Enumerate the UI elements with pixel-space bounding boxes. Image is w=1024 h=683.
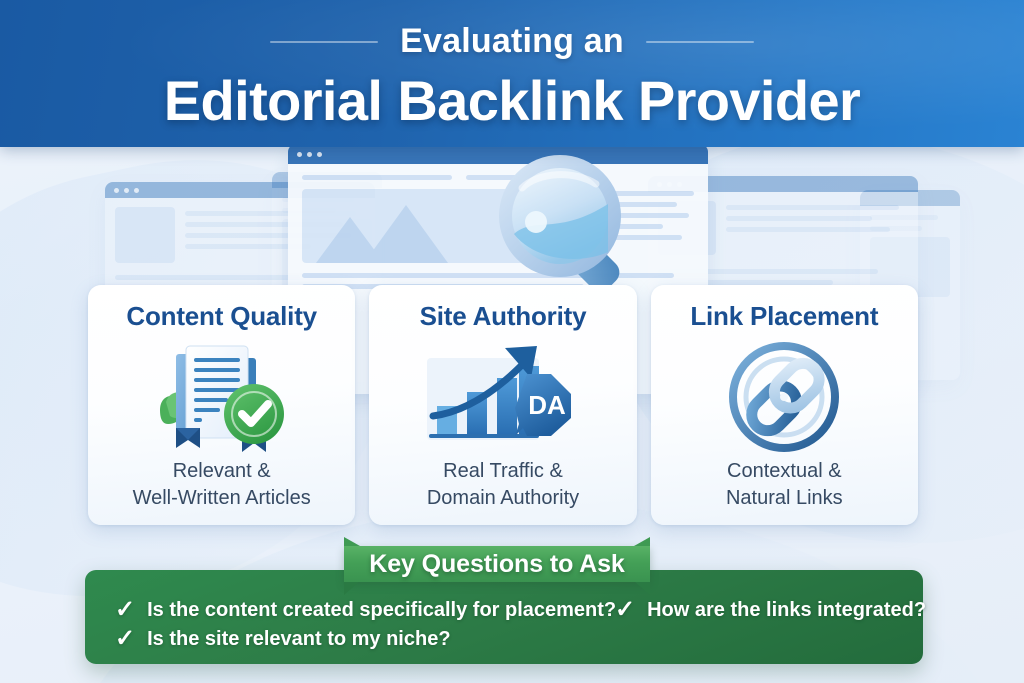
card-subtitle-line-1: Relevant & (133, 458, 311, 484)
infographic-canvas: Evaluating an Editorial Backlink Provide… (0, 0, 1024, 683)
question-item: ✓ Is the content created specifically fo… (115, 598, 615, 622)
decorative-rule-left (270, 41, 378, 43)
mockup-dot-icon (114, 188, 119, 193)
card-subtitle-line-2: Domain Authority (427, 485, 579, 511)
question-item: ✓ Is the site relevant to my niche? (115, 627, 615, 651)
ribbon-notch-left (344, 537, 360, 546)
ribbon-fold-right (635, 582, 650, 595)
check-mark-icon: ✓ (615, 598, 635, 622)
card-subtitle: Contextual & Natural Links (726, 458, 843, 511)
chain-link-circle-icon (661, 336, 908, 458)
mockup-dot-icon (307, 152, 312, 157)
card-subtitle-line-2: Natural Links (726, 485, 843, 511)
check-mark-icon: ✓ (115, 627, 135, 651)
card-subtitle-line-2: Well-Written Articles (133, 485, 311, 511)
mockup-dot-icon (297, 152, 302, 157)
card-subtitle-line-1: Real Traffic & (427, 458, 579, 484)
bar-chart-growth-arrow-icon: DA (379, 336, 626, 458)
key-questions-ribbon: Key Questions to Ask (344, 546, 650, 582)
document-with-check-badge-icon (98, 336, 345, 458)
card-title: Site Authority (420, 301, 587, 332)
key-questions-panel: ✓ Is the content created specifically fo… (85, 570, 923, 664)
mockup-dot-icon (134, 188, 139, 193)
question-text: Is the site relevant to my niche? (147, 628, 450, 651)
header-banner: Evaluating an Editorial Backlink Provide… (0, 0, 1024, 147)
decorative-rule-right (646, 41, 754, 43)
card-subtitle: Relevant & Well-Written Articles (133, 458, 311, 511)
mockup-dot-icon (317, 152, 322, 157)
question-text: How are the links integrated? (647, 599, 926, 622)
da-badge-label: DA (528, 390, 566, 420)
feature-card-row: Content Quality (88, 285, 918, 525)
header-eyebrow: Evaluating an (400, 22, 624, 61)
page-title: Editorial Backlink Provider (0, 68, 1024, 133)
card-subtitle: Real Traffic & Domain Authority (427, 458, 579, 511)
magnifying-glass-icon (462, 132, 672, 307)
ribbon-label: Key Questions to Ask (369, 550, 624, 579)
question-item: ✓ How are the links integrated? (615, 598, 901, 622)
mockup-dot-icon (124, 188, 129, 193)
feature-card-content-quality[interactable]: Content Quality (88, 285, 355, 525)
question-list: ✓ Is the content created specifically fo… (115, 598, 901, 651)
eyebrow-row: Evaluating an (0, 22, 1024, 61)
question-text: Is the content created specifically for … (147, 599, 616, 622)
card-title: Content Quality (126, 301, 317, 332)
card-subtitle-line-1: Contextual & (726, 458, 843, 484)
mockup-thumbnail (115, 207, 175, 263)
feature-card-site-authority[interactable]: Site Authority (369, 285, 636, 525)
card-title: Link Placement (690, 301, 878, 332)
ribbon-notch-right (634, 537, 650, 546)
check-mark-icon: ✓ (115, 598, 135, 622)
ribbon-fold-left (344, 582, 359, 595)
feature-card-link-placement[interactable]: Link Placement (651, 285, 918, 525)
